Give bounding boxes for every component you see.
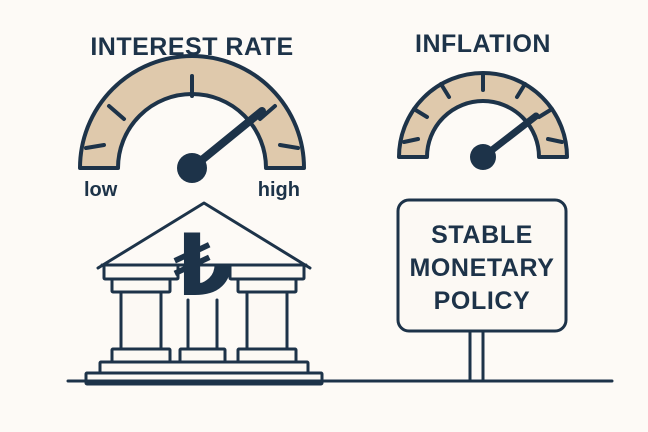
bank-entablature-left — [104, 265, 178, 279]
gauge-title-inflation: INFLATION — [415, 30, 551, 58]
gauge-label-low: low — [84, 179, 118, 201]
column-shaft — [121, 292, 161, 349]
illustration-canvas: INTEREST RATE low high INFLATION — [0, 0, 648, 432]
currency-symbol: ₺ — [173, 216, 233, 316]
monetary-policy-illustration: INTEREST RATE low high INFLATION — [0, 0, 648, 432]
gauge-label-high: high — [258, 179, 300, 201]
gauge-hub-interest-rate — [177, 153, 207, 183]
sign-line-1: STABLE — [431, 221, 533, 249]
turkish-lira-icon: ₺ — [173, 216, 233, 316]
bank-column-right — [238, 279, 296, 363]
gauge-hub-inflation — [470, 144, 496, 170]
column-capital — [112, 279, 170, 292]
bank-entablature-right — [230, 265, 304, 279]
bank-column-left — [112, 279, 170, 363]
sign-line-3: POLICY — [434, 287, 531, 315]
column-shaft — [247, 292, 287, 349]
sign-line-2: MONETARY — [409, 254, 554, 282]
gauge-inflation: INFLATION — [399, 30, 567, 170]
column-capital — [238, 279, 296, 292]
